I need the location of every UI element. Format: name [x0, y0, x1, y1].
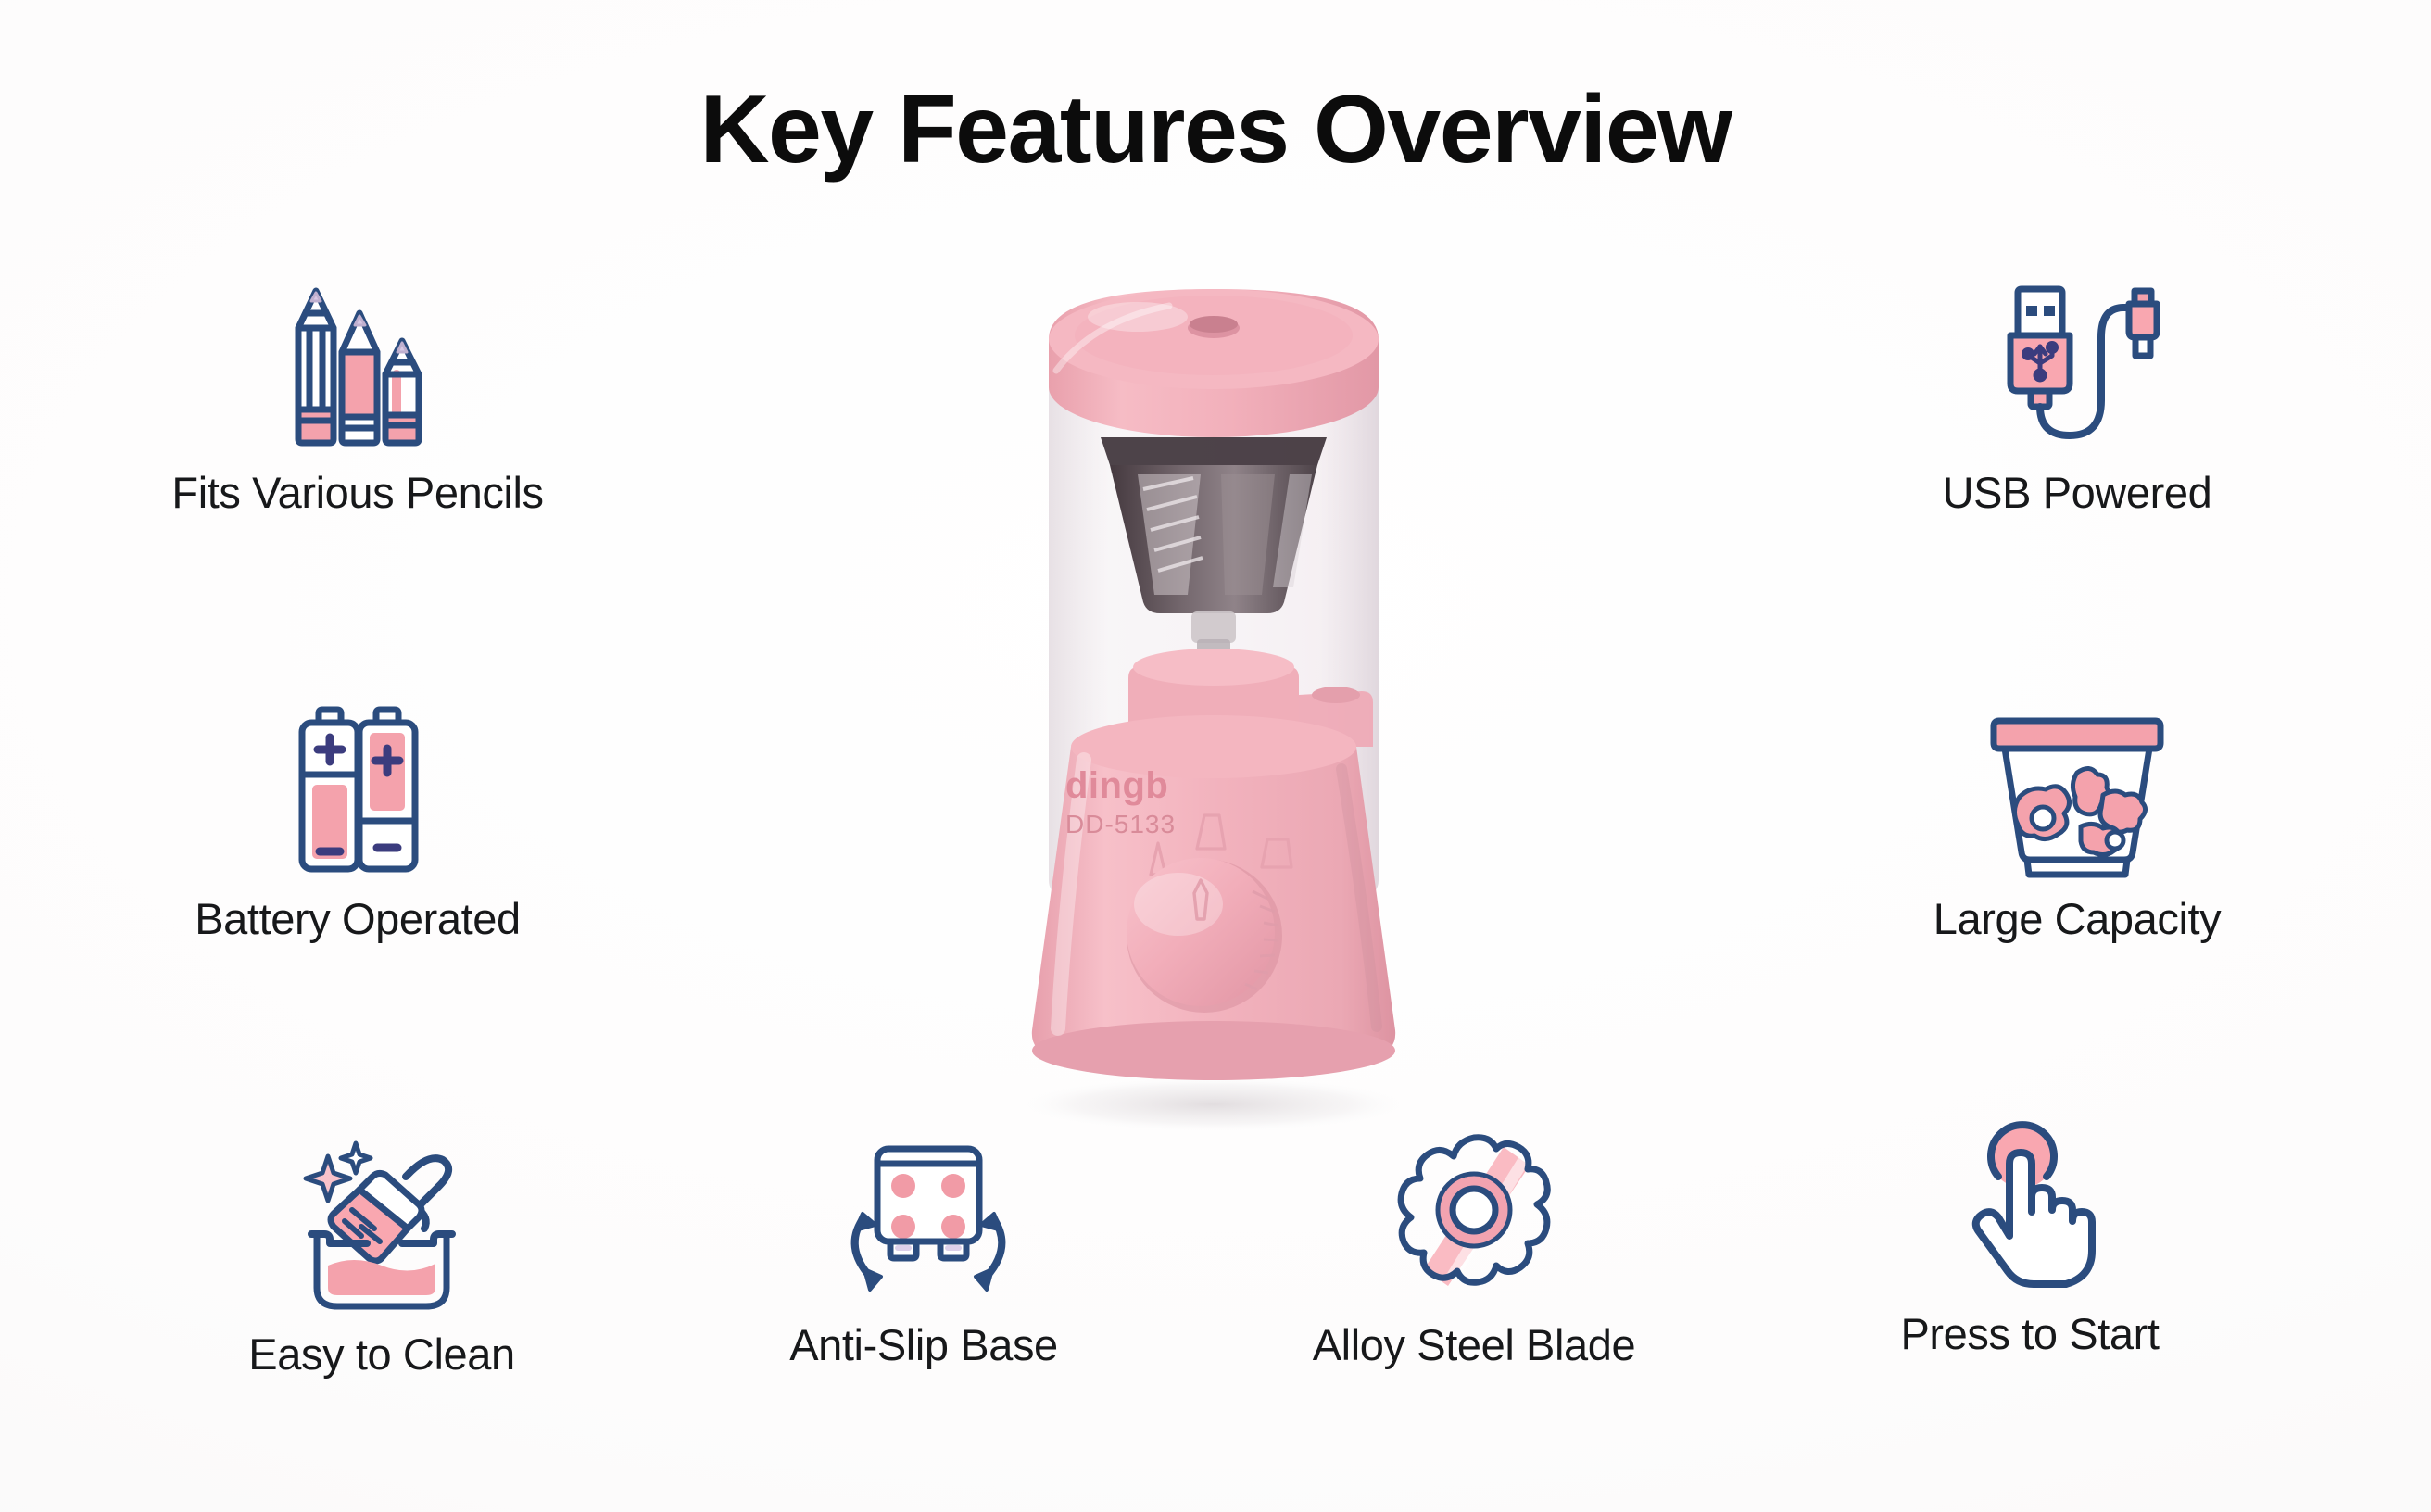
- saw-blade-icon: [1381, 1123, 1567, 1308]
- feature-easy-to-clean: Easy to Clean: [159, 1132, 604, 1380]
- feature-press-to-start: Press to Start: [1803, 1112, 2257, 1359]
- two-batteries-icon: [265, 697, 450, 882]
- feature-label: Anti-Slip Base: [789, 1319, 1058, 1370]
- feature-large-capacity: Large Capacity: [1818, 697, 2337, 944]
- feature-label: Fits Various Pencils: [171, 467, 543, 518]
- feature-label: Battery Operated: [195, 893, 521, 944]
- feature-label: Easy to Clean: [248, 1329, 514, 1380]
- shavings-bin-icon: [1984, 697, 2170, 882]
- usb-cable-icon: [1984, 271, 2170, 456]
- feature-label: Large Capacity: [1933, 893, 2222, 944]
- page-title: Key Features Overview: [0, 82, 2431, 178]
- feature-alloy-steel-blade: Alloy Steel Blade: [1256, 1123, 1692, 1370]
- brush-basin-icon: [289, 1132, 474, 1317]
- feature-label: Press to Start: [1900, 1308, 2159, 1359]
- feature-usb-powered: USB Powered: [1818, 271, 2337, 518]
- base-arrows-icon: [831, 1123, 1016, 1308]
- feature-battery-operated: Battery Operated: [98, 697, 617, 944]
- feature-label: Alloy Steel Blade: [1313, 1319, 1636, 1370]
- feature-fits-various-pencils: Fits Various Pencils: [98, 271, 617, 518]
- hand-press-icon: [1937, 1112, 2122, 1297]
- feature-anti-slip-base: Anti-Slip Base: [706, 1123, 1141, 1370]
- product-image: [926, 232, 1501, 1158]
- three-pencils-icon: [265, 271, 450, 456]
- feature-label: USB Powered: [1943, 467, 2212, 518]
